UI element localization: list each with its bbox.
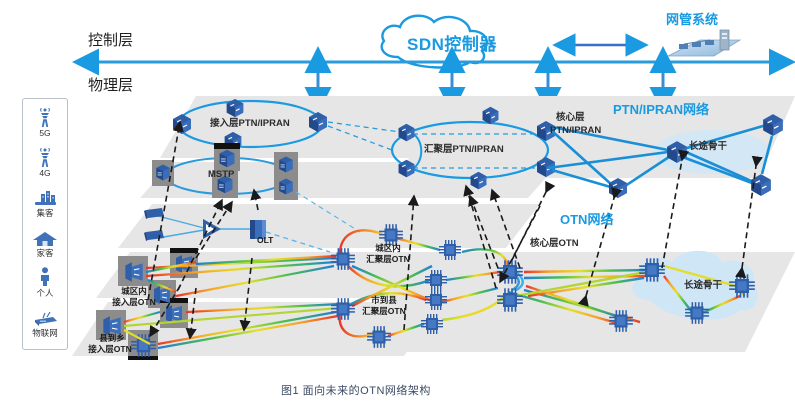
ptn-network-title: PTN/IPRAN网络 [613,103,709,117]
mstp-node[interactable] [156,165,169,181]
core-ptn-label-line2: PTN/IPRAN [550,126,601,136]
iot-gateway-icon [31,307,59,327]
sidebar-label-iot: 物联网 [23,327,67,339]
sidebar-label-personal: 个人 [23,287,67,299]
cell-tower-icon [34,148,56,168]
sidebar-label-home: 家客 [23,247,67,259]
office-building-icon [32,187,58,207]
agg-otn-urban-label-1: 城区内 [358,244,418,253]
backbone-otn-label: 长途骨干 [684,281,722,291]
agg-otn-county-label-2: 汇聚层OTN [346,307,422,316]
sdn-controller-label: SDN控制器 [407,36,497,54]
olt-label: OLT [257,236,273,245]
sidebar-item-personal[interactable]: 个人 [23,263,67,303]
access-ptn-ring-label: 接入层PTN/IPRAN [210,119,290,129]
agg-otn-county-label-1: 市到县 [354,296,414,305]
core-otn-label: 核心层OTN [530,239,579,249]
sidebar-label-enterprise: 集客 [23,207,67,219]
sidebar-item-iot[interactable]: 物联网 [23,303,67,343]
agg-ptn-ring-label: 汇聚层PTN/IPRAN [424,145,504,155]
backbone-ptn-label: 长途骨干 [689,142,727,152]
house-icon [32,227,58,247]
physical-layer-label: 物理层 [88,78,133,94]
sidebar-item-5g[interactable]: 5G [23,103,67,143]
network-architecture-canvas [0,0,795,419]
core-ptn-label-line1: 核心层 [556,113,585,123]
core-ptn-node[interactable] [609,178,627,198]
mstp-node[interactable] [279,157,292,173]
nms-server-icon [668,30,740,56]
access-otn-urban-label-2: 接入层OTN [96,298,172,307]
nms-label: 网管系统 [666,13,718,27]
mstp-node[interactable] [279,179,292,195]
sidebar-item-4g[interactable]: 4G [23,143,67,183]
diagram-root: 控制层 物理层 SDN控制器 网管系统 PTN/IPRAN网络 OTN网络 接入… [0,0,795,419]
access-otn-county-label-1: 县到乡 [84,334,140,343]
mstp-ring-label: MSTP [208,170,234,180]
access-otn-urban-label-1: 城区内 [106,287,162,296]
sidebar-item-home[interactable]: 家客 [23,223,67,263]
mstp-node[interactable] [220,150,235,167]
figure-caption: 图1 面向未来的OTN网络架构 [281,386,431,398]
sidebar-label-5g: 5G [23,128,67,138]
access-otn-county-label-2: 接入层OTN [72,345,148,354]
cell-tower-icon [34,108,56,128]
control-to-physical-arrows [318,70,663,90]
client-types-sidebar: 5G 4G [22,98,68,350]
person-icon [38,267,52,287]
agg-otn-urban-label-2: 汇聚层OTN [350,255,426,264]
otn-network-title: OTN网络 [560,213,613,227]
sidebar-label-4g: 4G [23,168,67,178]
control-layer-label: 控制层 [88,33,133,49]
sidebar-item-enterprise[interactable]: 集客 [23,183,67,223]
